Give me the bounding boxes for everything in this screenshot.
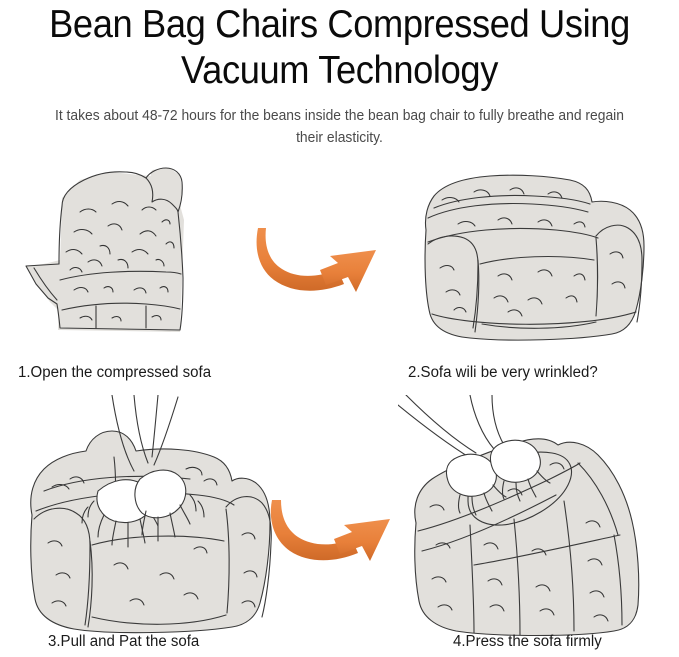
infographic-page: Bean Bag Chairs Compressed Using Vacuum … (0, 0, 679, 657)
steps-grid: 1.Open the compressed sofa (0, 160, 679, 657)
wrinkled-sofa-illustration (398, 164, 679, 364)
header: Bean Bag Chairs Compressed Using Vacuum … (0, 0, 679, 149)
step-4: 4.Press the sofa firmly (340, 395, 679, 657)
step-2-caption: 2.Sofa wili be very wrinkled? (408, 363, 598, 383)
page-title: Bean Bag Chairs Compressed Using Vacuum … (24, 2, 655, 94)
step-1-caption: 1.Open the compressed sofa (18, 363, 211, 383)
pat-sofa-illustration (18, 395, 288, 640)
page-subtitle: It takes about 48-72 hours for the beans… (10, 105, 669, 149)
step-3-caption: 3.Pull and Pat the sofa (48, 632, 199, 652)
press-sofa-illustration (398, 395, 670, 640)
step-4-caption: 4.Press the sofa firmly (453, 632, 602, 652)
step-2: 2.Sofa wili be very wrinkled? (340, 160, 679, 410)
compressed-sofa-illustration (0, 160, 250, 360)
